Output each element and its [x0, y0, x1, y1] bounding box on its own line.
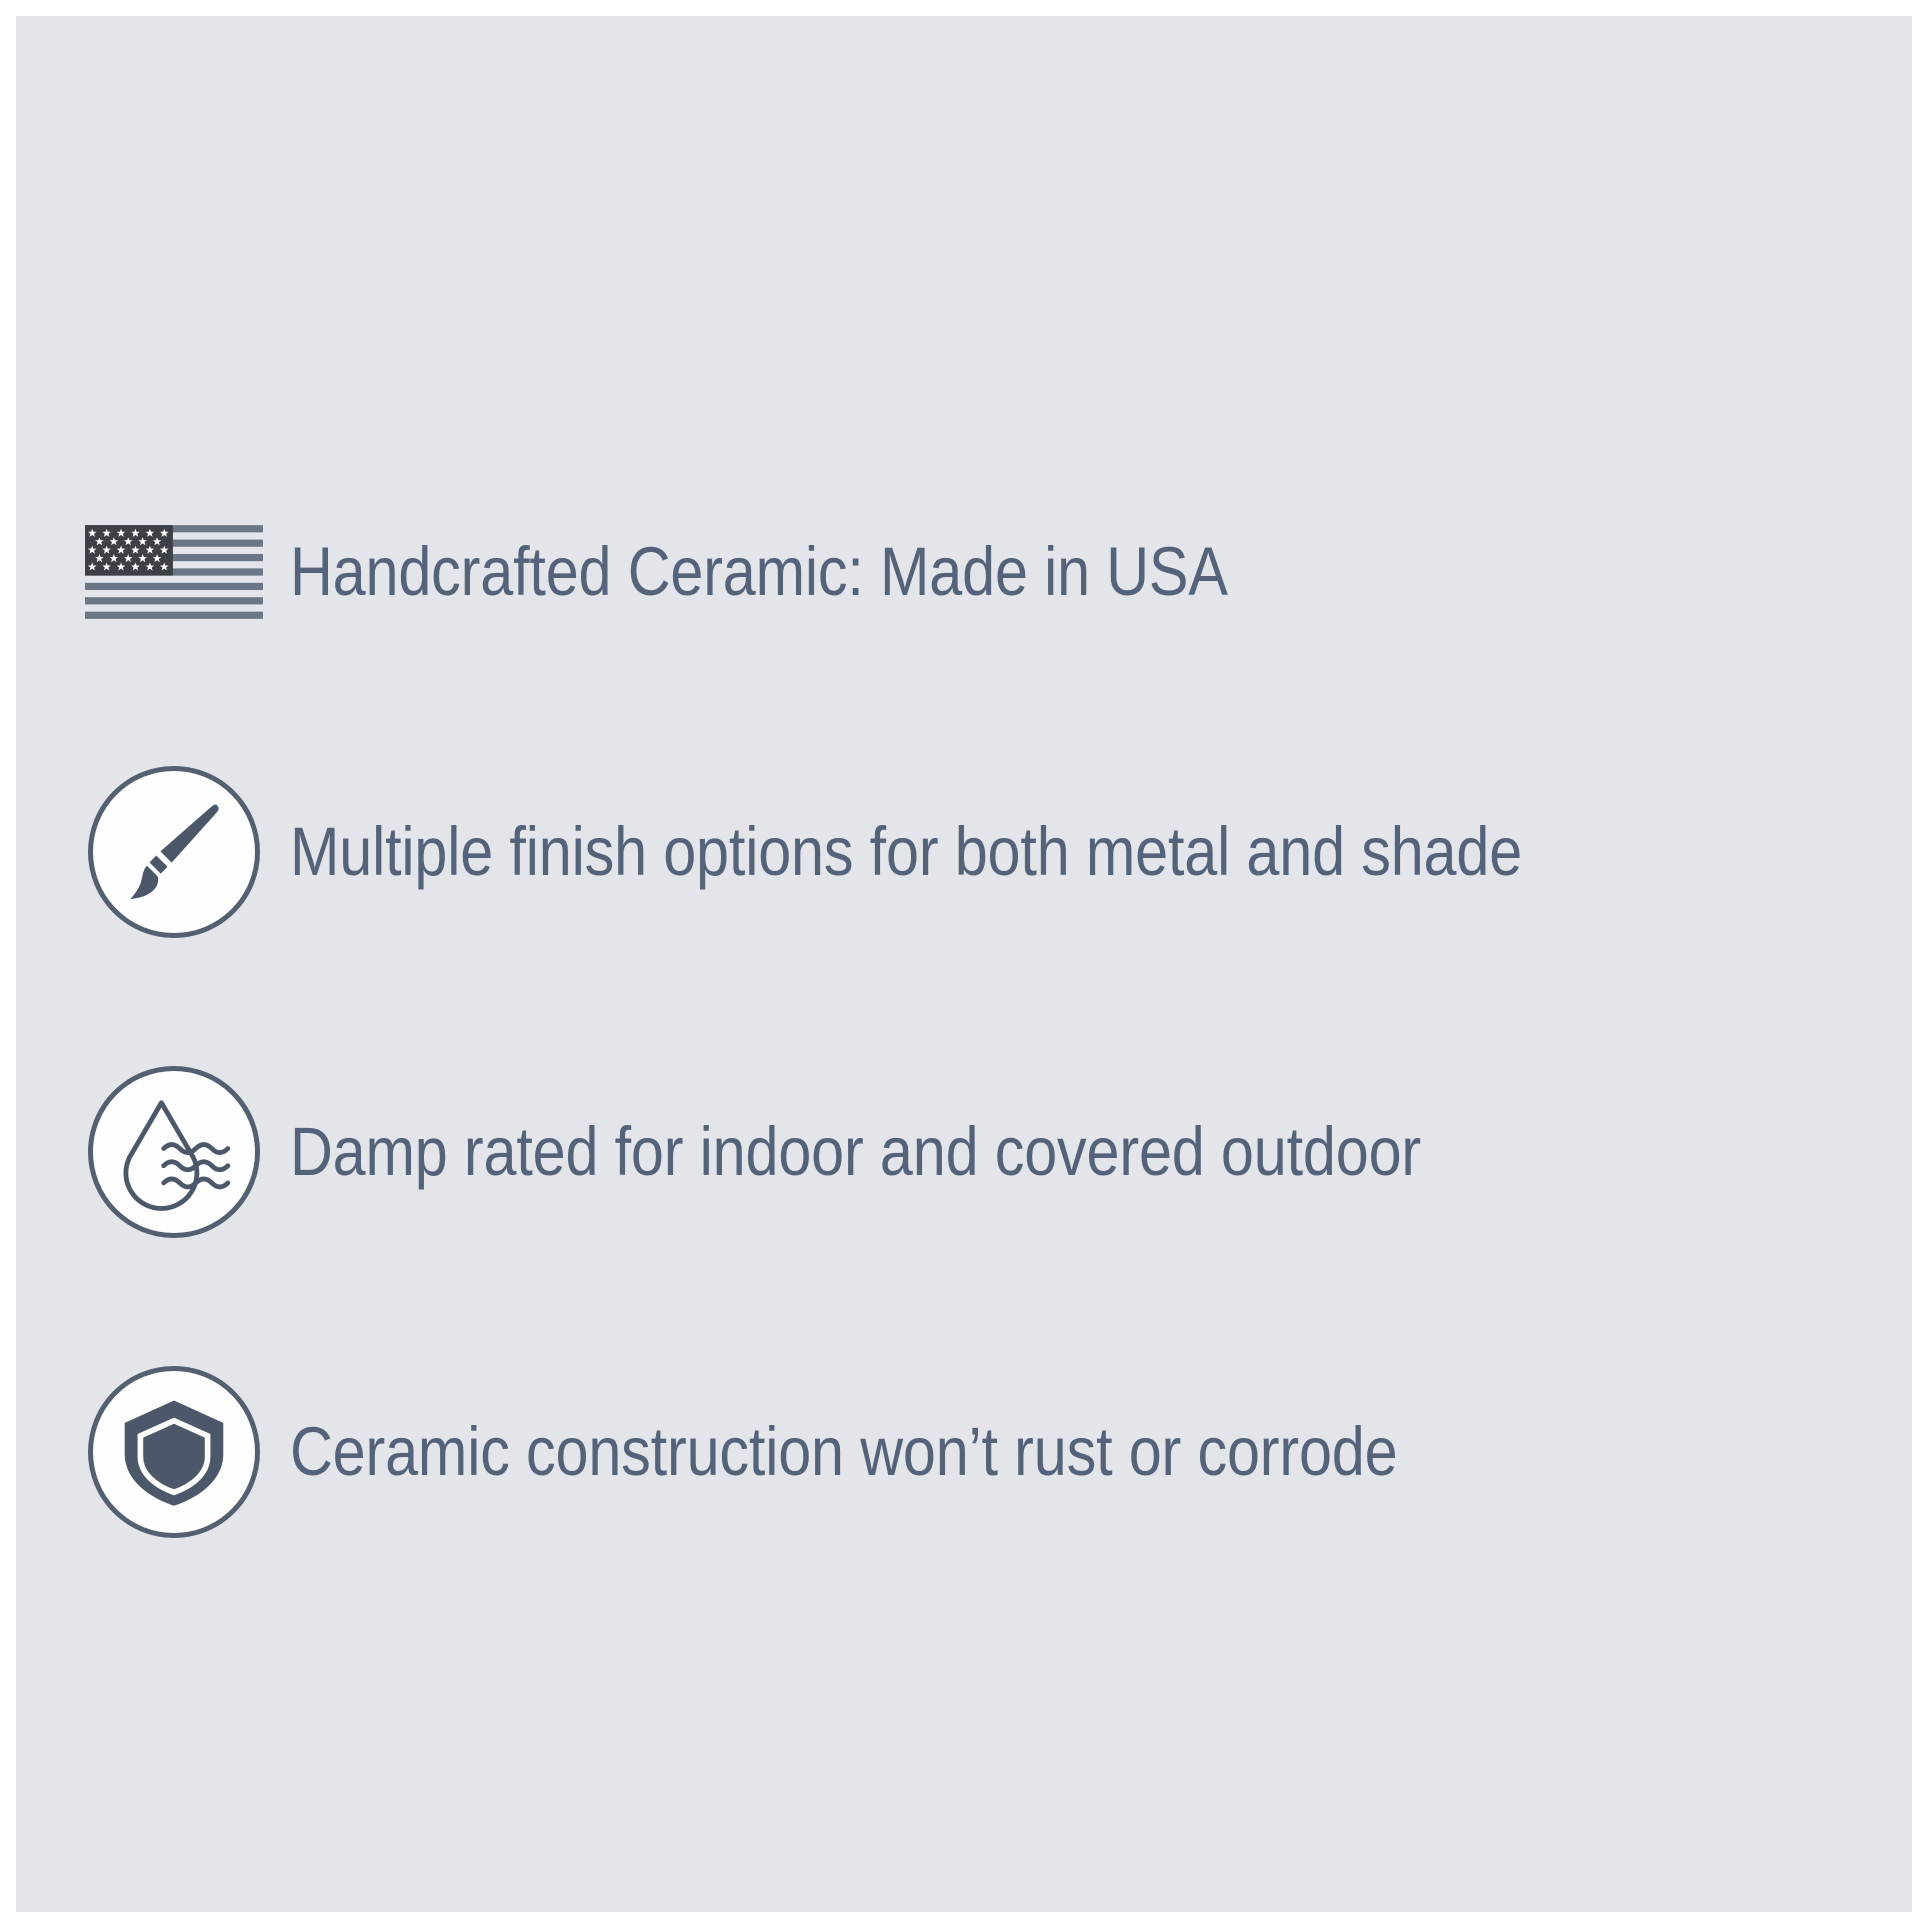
- feature-list: Handcrafted Ceramic: Made in USA Multipl…: [16, 16, 1912, 1912]
- icon-slot: [74, 762, 274, 942]
- icon-slot: [74, 482, 274, 662]
- list-item: Handcrafted Ceramic: Made in USA: [74, 482, 1874, 662]
- icon-circle: [88, 1066, 260, 1238]
- icon-slot: [74, 1062, 274, 1242]
- paintbrush-icon: [115, 793, 233, 911]
- icon-slot: [74, 1362, 274, 1542]
- icon-circle: [88, 766, 260, 938]
- list-item: Multiple finish options for both metal a…: [74, 762, 1874, 942]
- usa-flag-icon: [85, 520, 263, 624]
- shield-icon: [118, 1396, 230, 1508]
- icon-circle: [88, 1366, 260, 1538]
- feature-label: Multiple finish options for both metal a…: [290, 816, 1522, 888]
- list-item: Ceramic construction won’t rust or corro…: [74, 1362, 1874, 1542]
- feature-label: Ceramic construction won’t rust or corro…: [290, 1416, 1397, 1488]
- water-drop-icon: [111, 1089, 237, 1215]
- feature-label: Handcrafted Ceramic: Made in USA: [290, 536, 1228, 608]
- feature-panel: Handcrafted Ceramic: Made in USA Multipl…: [16, 16, 1912, 1912]
- list-item: Damp rated for indoor and covered outdoo…: [74, 1062, 1874, 1242]
- feature-label: Damp rated for indoor and covered outdoo…: [290, 1116, 1421, 1188]
